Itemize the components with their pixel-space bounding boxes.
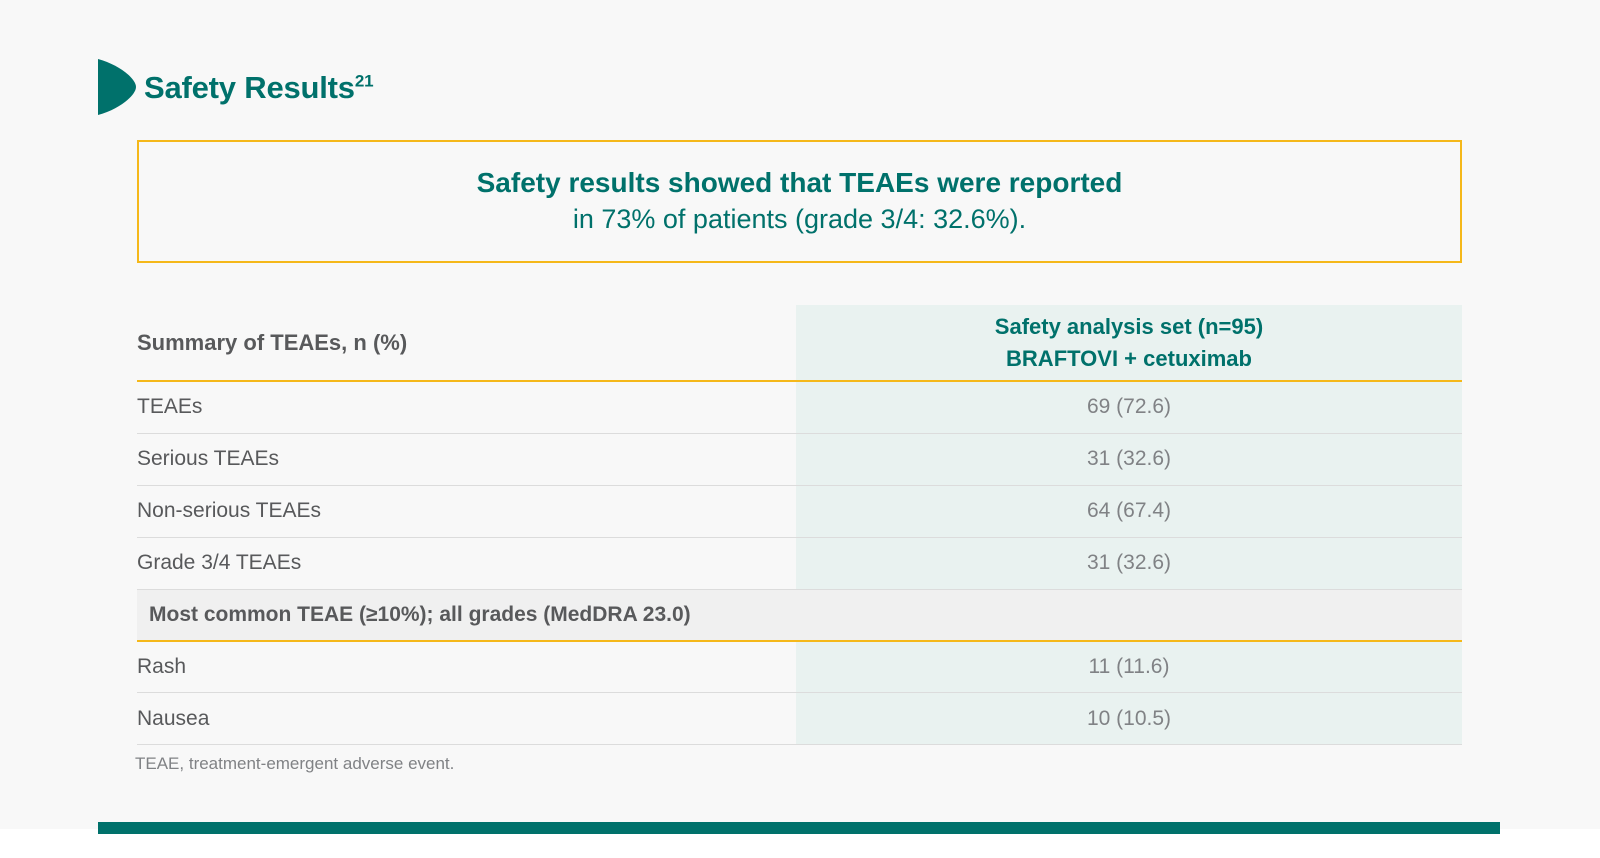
table-row: Nausea 10 (10.5): [137, 693, 1462, 745]
row-label: Grade 3/4 TEAEs: [137, 537, 796, 589]
safety-results-table: Summary of TEAEs, n (%) Safety analysis …: [137, 305, 1462, 745]
row-label: Non-serious TEAEs: [137, 485, 796, 537]
page-title-label: Safety Results: [144, 70, 355, 105]
row-label: Serious TEAEs: [137, 433, 796, 485]
callout-line-2: in 73% of patients (grade 3/4: 32.6%).: [573, 202, 1026, 238]
table-row: TEAEs 69 (72.6): [137, 381, 1462, 433]
column-header-line-1: Safety analysis set (n=95): [796, 311, 1462, 343]
row-value: 10 (10.5): [796, 693, 1462, 745]
row-label: Rash: [137, 641, 796, 693]
table-section-label: Most common TEAE (≥10%); all grades (Med…: [137, 589, 1462, 641]
column-header-safety-analysis-set: Safety analysis set (n=95) BRAFTOVI + ce…: [796, 305, 1462, 381]
page-title-text: Safety Results21: [144, 72, 373, 103]
table-section-row: Most common TEAE (≥10%); all grades (Med…: [137, 589, 1462, 641]
row-label: TEAEs: [137, 381, 796, 433]
table-row: Serious TEAEs 31 (32.6): [137, 433, 1462, 485]
column-header-summary: Summary of TEAEs, n (%): [137, 305, 796, 381]
callout-line-1: Safety results showed that TEAEs were re…: [477, 165, 1123, 202]
row-value: 31 (32.6): [796, 537, 1462, 589]
callout-box: Safety results showed that TEAEs were re…: [137, 140, 1462, 263]
page-title: Safety Results21: [98, 56, 373, 118]
row-value: 69 (72.6): [796, 381, 1462, 433]
play-triangle-icon: [98, 59, 136, 115]
table-header-row: Summary of TEAEs, n (%) Safety analysis …: [137, 305, 1462, 381]
row-value: 64 (67.4): [796, 485, 1462, 537]
footnote: TEAE, treatment-emergent adverse event.: [135, 753, 454, 775]
table-row: Non-serious TEAEs 64 (67.4): [137, 485, 1462, 537]
slide: Safety Results21 Safety results showed t…: [0, 0, 1600, 858]
page-title-superscript: 21: [355, 71, 374, 90]
table-row: Grade 3/4 TEAEs 31 (32.6): [137, 537, 1462, 589]
row-label: Nausea: [137, 693, 796, 745]
row-value: 31 (32.6): [796, 433, 1462, 485]
column-header-line-2: BRAFTOVI + cetuximab: [796, 343, 1462, 375]
row-value: 11 (11.6): [796, 641, 1462, 693]
table-row: Rash 11 (11.6): [137, 641, 1462, 693]
bottom-accent-bar: [98, 822, 1500, 834]
